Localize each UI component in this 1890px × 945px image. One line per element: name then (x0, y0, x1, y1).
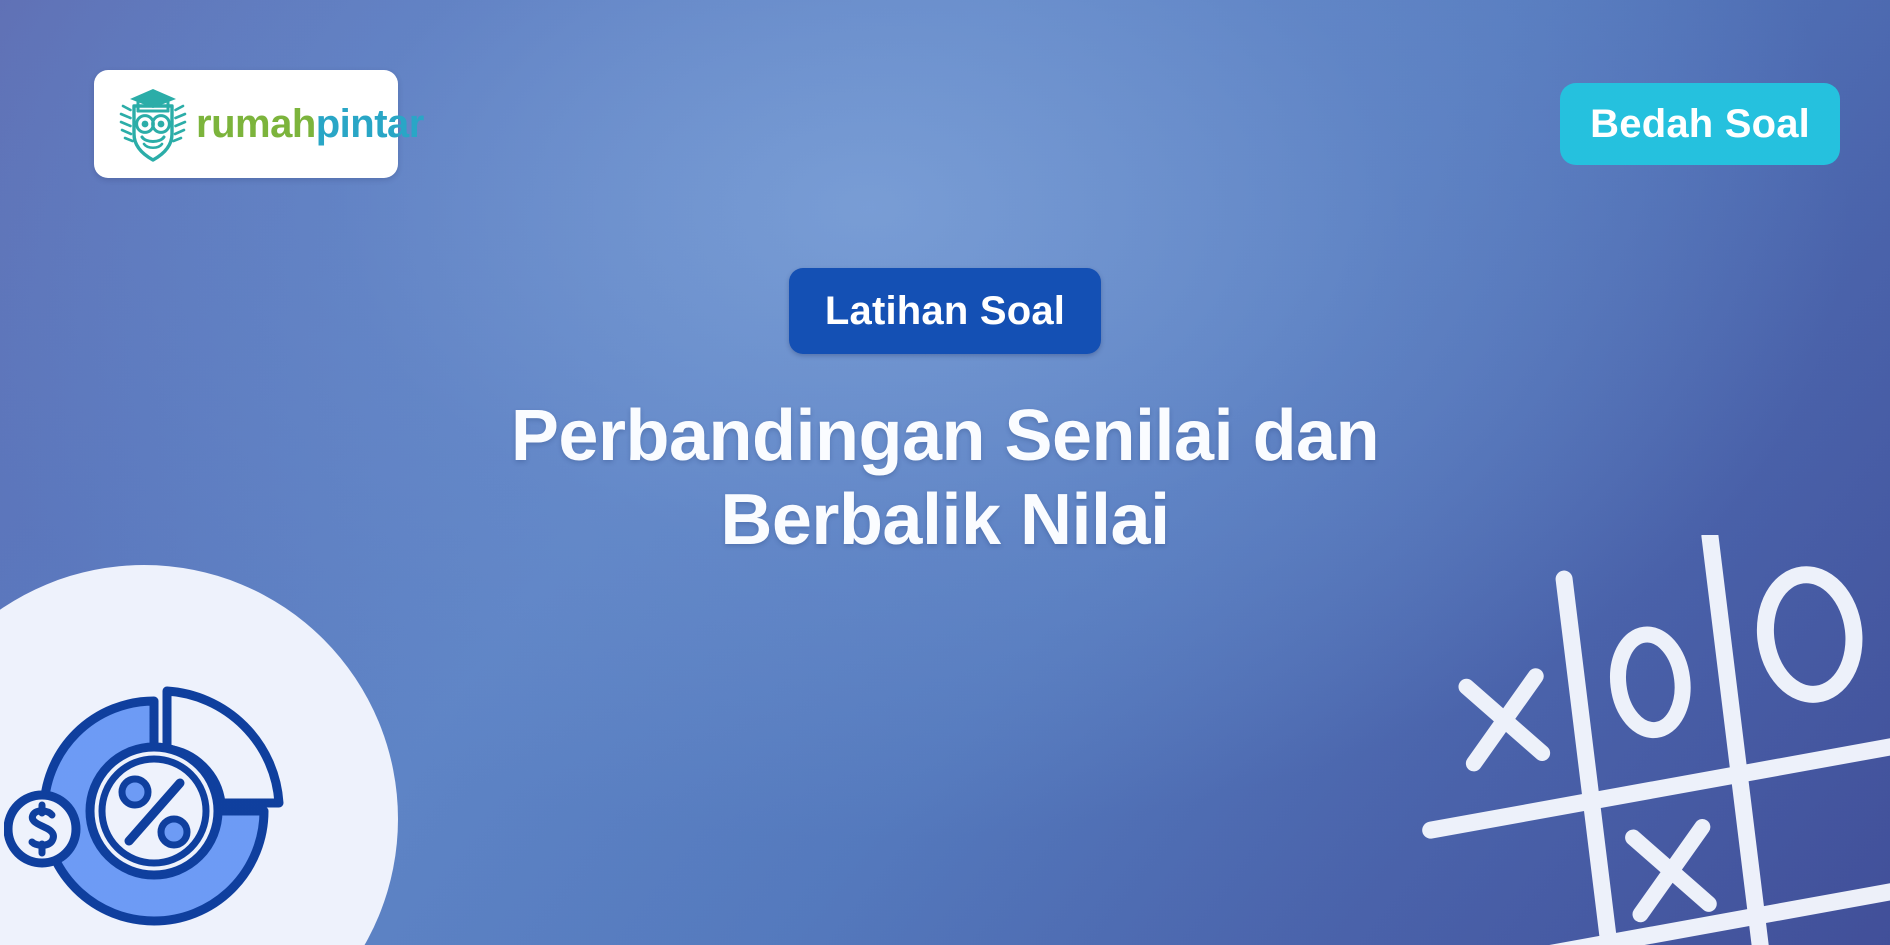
brand-wordmark-part-two: pintar (316, 102, 424, 146)
pie-chart-percent-dollar-icon (4, 661, 304, 945)
page-title: Perbandingan Senilai dan Berbalik Nilai (511, 394, 1379, 562)
thumbnail-canvas: rumahpintar Bedah Soal Latihan Soal Perb… (0, 0, 1890, 945)
badge-bedah-soal[interactable]: Bedah Soal (1560, 83, 1840, 165)
owl-graduation-shield-icon (116, 84, 190, 164)
brand-wordmark: rumahpintar (196, 104, 424, 144)
brand-logo-chip[interactable]: rumahpintar (94, 70, 398, 178)
page-title-line-two: Berbalik Nilai (720, 480, 1169, 560)
tic-tac-toe-icon (1370, 535, 1890, 945)
page-title-line-one: Perbandingan Senilai dan (511, 396, 1379, 476)
badge-latihan-soal[interactable]: Latihan Soal (789, 268, 1101, 354)
brand-wordmark-part-one: rumah (196, 102, 316, 146)
center-content: Latihan Soal Perbandingan Senilai dan Be… (0, 268, 1890, 562)
